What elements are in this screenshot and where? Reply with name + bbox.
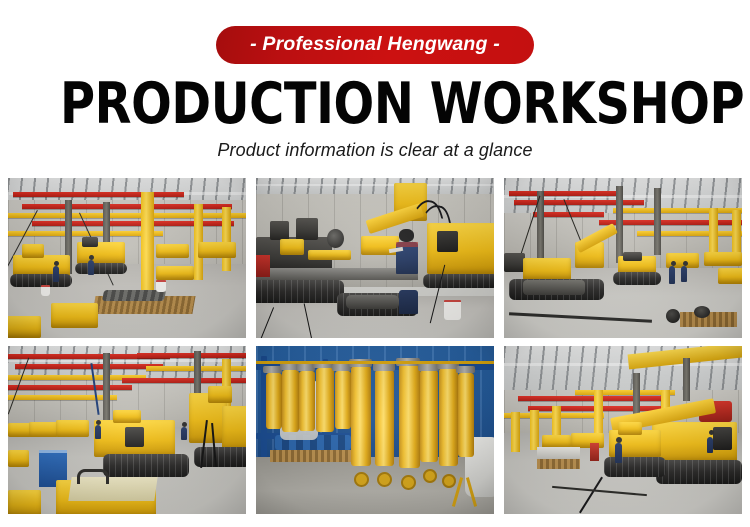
gallery-photo-bottom-right xyxy=(504,346,742,514)
professional-badge: - Professional Hengwang - xyxy=(216,26,534,64)
gallery-photo-top-left xyxy=(8,178,246,338)
gallery-photo-bottom-left xyxy=(8,346,246,514)
gallery-photo-top-right xyxy=(504,178,742,338)
gallery-photo-top-center xyxy=(256,178,494,338)
page-title: PRODUCTION WORKSHOP xyxy=(60,76,690,133)
page-header: - Professional Hengwang - PRODUCTION WOR… xyxy=(0,0,750,161)
page-subtitle: Product information is clear at a glance xyxy=(0,140,750,161)
gallery-photo-bottom-center xyxy=(256,346,494,514)
photo-gallery xyxy=(8,178,742,516)
